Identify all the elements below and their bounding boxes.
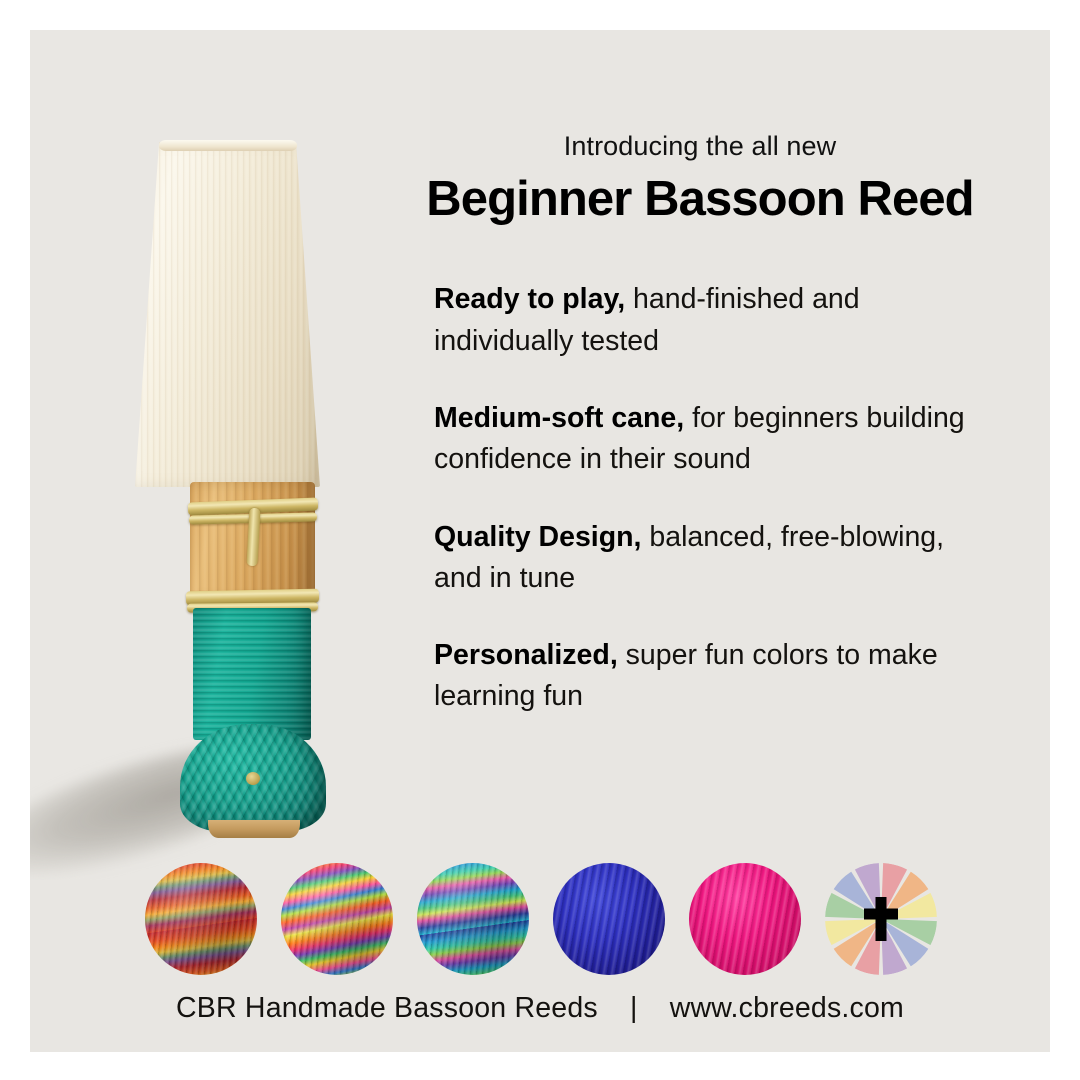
swatch-more-colors[interactable] — [825, 863, 937, 975]
swatch-multicolor-fire[interactable] — [145, 863, 257, 975]
reed-blade — [135, 142, 320, 487]
eyebrow-text: Introducing the all new — [400, 130, 1000, 162]
feature-item-3-bold: Personalized, — [434, 639, 618, 671]
footer: CBR Handmade Bassoon Reeds | www.cbreeds… — [30, 992, 1050, 1025]
footer-website[interactable]: www.cbreeds.com — [670, 992, 904, 1024]
feature-item-1-bold: Medium-soft cane, — [434, 402, 684, 434]
reed-base — [208, 820, 300, 838]
swatch-royal-blue[interactable] — [553, 863, 665, 975]
color-wheel-icon — [825, 863, 937, 975]
bassoon-reed-photo — [30, 30, 430, 880]
footer-separator: | — [630, 992, 638, 1025]
page-title: Beginner Bassoon Reed — [400, 172, 1000, 227]
swatch-hot-pink[interactable] — [689, 863, 801, 975]
feature-item-0: Ready to play, hand-finished and individ… — [434, 279, 982, 362]
feature-item-3: Personalized, super fun colors to make l… — [434, 635, 982, 718]
poster-card: Introducing the all new Beginner Bassoon… — [30, 30, 1050, 1052]
reed-thread-knot — [246, 772, 260, 785]
color-swatch-row — [145, 863, 945, 983]
reed-thread-wrap — [193, 608, 311, 740]
feature-item-1: Medium-soft cane, for beginners building… — [434, 398, 982, 481]
feature-item-2-bold: Quality Design, — [434, 521, 641, 553]
poster-canvas: Introducing the all new Beginner Bassoon… — [0, 0, 1080, 1080]
swatch-ocean-rainbow[interactable] — [417, 863, 529, 975]
footer-brand: CBR Handmade Bassoon Reeds — [176, 992, 598, 1024]
reed-blade-tip — [159, 140, 297, 151]
feature-list: Ready to play, hand-finished and individ… — [400, 279, 1000, 718]
swatch-neon-rainbow[interactable] — [281, 863, 393, 975]
feature-item-2: Quality Design, balanced, free-blowing, … — [434, 517, 982, 600]
feature-item-0-bold: Ready to play, — [434, 283, 625, 315]
text-column: Introducing the all new Beginner Bassoon… — [400, 130, 1000, 718]
